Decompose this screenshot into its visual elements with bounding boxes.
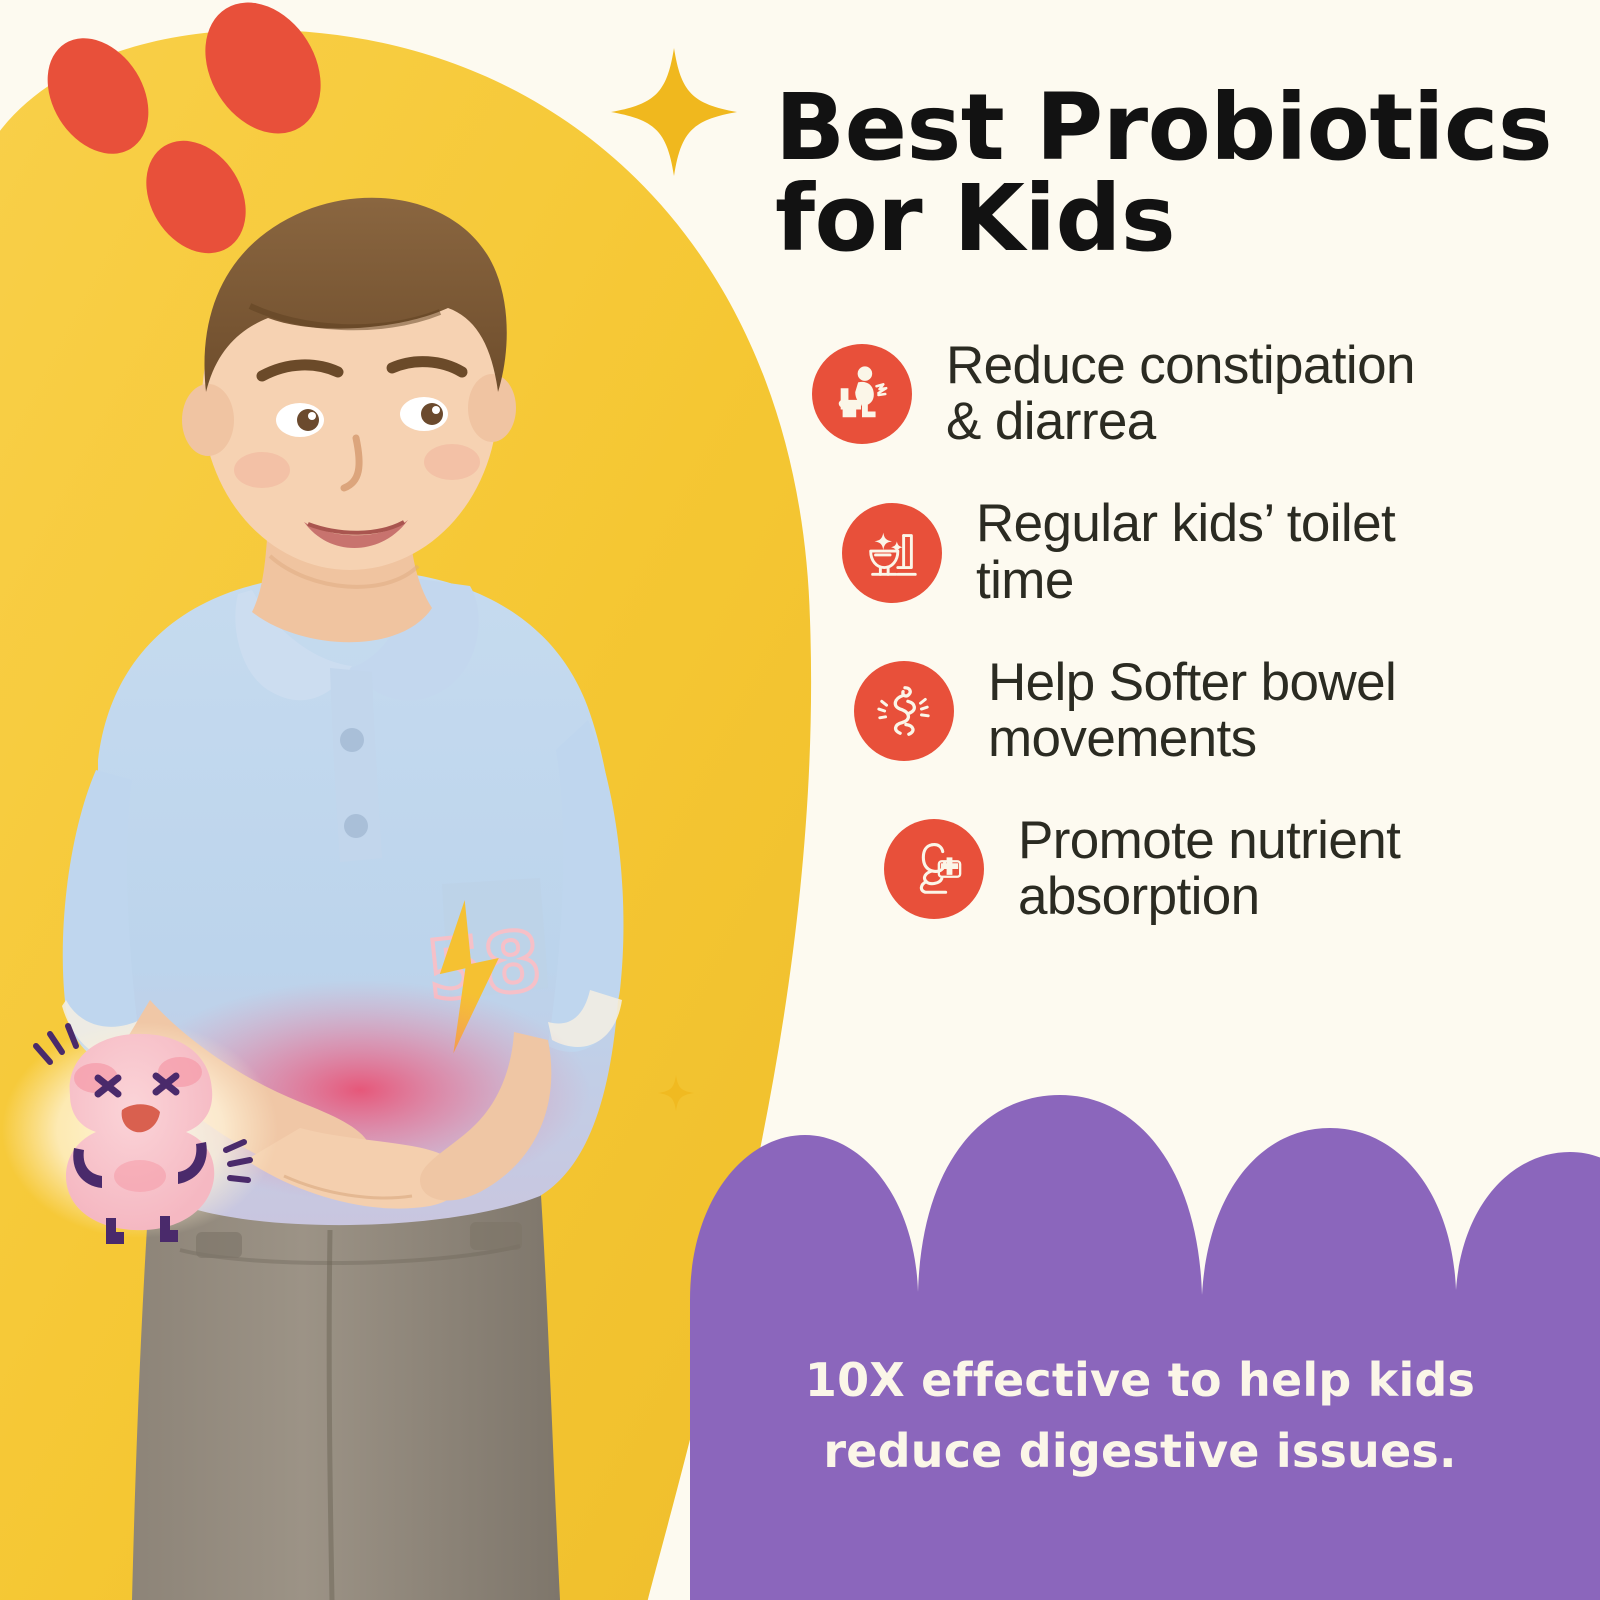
shirt-button <box>344 814 368 838</box>
infographic-canvas: 58 <box>0 0 1600 1600</box>
person-on-toilet-icon <box>831 363 893 425</box>
footer-tagline: 10X effective to help kids reduce digest… <box>700 1345 1580 1488</box>
benefit-item: Promote nutrient absorption <box>884 813 1572 925</box>
benefit-label-line-2: time <box>976 551 1074 610</box>
shirt-button <box>340 728 364 752</box>
intestine-pain-icon <box>873 680 935 742</box>
footer-line-2: reduce digestive issues. <box>700 1416 1580 1487</box>
benefit-label-line-1: Help Softer bowel <box>988 653 1396 712</box>
benefit-label-line-2: absorption <box>1018 867 1260 926</box>
page-title: Best Probiotics for Kids <box>775 82 1565 264</box>
benefit-label: Promote nutrient absorption <box>1018 813 1400 925</box>
benefit-label-line-1: Promote nutrient <box>1018 811 1400 870</box>
benefit-label-line-2: & diarrea <box>946 392 1156 451</box>
benefit-icon-badge <box>842 503 942 603</box>
benefit-label-line-2: movements <box>988 709 1257 768</box>
benefits-list: Reduce constipation & diarrea <box>812 338 1572 925</box>
benefit-icon-badge <box>854 661 954 761</box>
footer-line-1: 10X effective to help kids <box>700 1345 1580 1416</box>
headline-line-2: for Kids <box>775 173 1565 264</box>
benefit-label: Regular kids’ toilet time <box>976 496 1395 608</box>
clean-toilet-sparkle-icon <box>861 522 923 584</box>
benefit-item: Regular kids’ toilet time <box>842 496 1572 608</box>
benefit-label: Reduce constipation & diarrea <box>946 338 1415 450</box>
benefit-label-line-1: Reduce constipation <box>946 336 1415 395</box>
benefit-icon-badge <box>812 344 912 444</box>
benefit-item: Reduce constipation & diarrea <box>812 338 1572 450</box>
boy-photo: 58 <box>0 0 820 1600</box>
benefit-icon-badge <box>884 819 984 919</box>
stomach-medical-cross-icon <box>903 838 965 900</box>
benefit-item: Help Softer bowel movements <box>854 655 1572 767</box>
benefit-label: Help Softer bowel movements <box>988 655 1396 767</box>
benefit-label-line-1: Regular kids’ toilet <box>976 494 1395 553</box>
